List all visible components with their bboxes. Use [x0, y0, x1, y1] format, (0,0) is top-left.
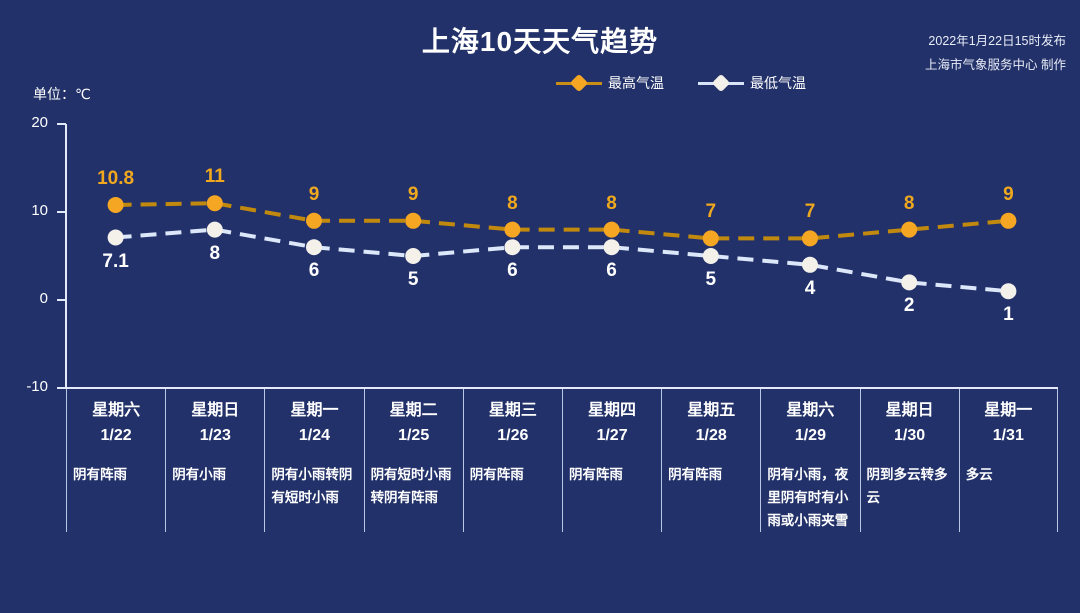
day-weekday-label: 星期日: [172, 399, 258, 424]
day-weekday-label: 星期六: [767, 399, 853, 424]
y-axis-tick-label: 10: [2, 202, 48, 219]
forecast-day-column[interactable]: 星期四1/27阴有阵雨: [562, 389, 661, 532]
day-weather-description: 阴到多云转多云: [867, 463, 953, 509]
forecast-day-column[interactable]: 星期一1/31多云: [959, 389, 1058, 532]
day-weekday-label: 星期三: [470, 399, 556, 424]
min-temp-value-label: 5: [661, 269, 761, 291]
day-weekday-label: 星期二: [371, 399, 457, 424]
day-weekday-label: 星期日: [867, 399, 953, 424]
publish-info: 2022年1月22日15时发布 上海市气象服务中心 制作: [925, 30, 1066, 78]
day-weather-description: 阴有短时小雨转阴有阵雨: [371, 463, 457, 509]
day-weather-description: 阴有小雨: [172, 463, 258, 486]
day-weekday-label: 星期五: [668, 399, 754, 424]
min-temp-value-label: 4: [760, 278, 860, 300]
day-weather-description: 阴有阵雨: [569, 463, 655, 486]
forecast-day-column[interactable]: 星期日1/30阴到多云转多云: [860, 389, 959, 532]
y-axis-tick-label: -10: [2, 378, 48, 395]
max-temp-value-label: 11: [165, 166, 265, 188]
axis-unit-label: 单位：℃: [33, 84, 91, 104]
day-weather-description: 阴有小雨，夜里阴有时有小雨或小雨夹雪: [767, 463, 853, 533]
day-date-label: 1/28: [668, 424, 754, 449]
min-temp-value-label: 6: [264, 260, 364, 282]
max-temp-value-label: 7: [661, 201, 761, 223]
forecast-day-column[interactable]: 星期六1/29阴有小雨，夜里阴有时有小雨或小雨夹雪: [760, 389, 859, 532]
day-weather-description: 阴有小雨转阴有短时小雨: [271, 463, 357, 509]
min-temp-value-label: 6: [462, 260, 562, 282]
chart-legend: 最高气温 最低气温: [556, 73, 806, 93]
day-weekday-label: 星期六: [73, 399, 159, 424]
day-weather-description: 阴有阵雨: [73, 463, 159, 486]
forecast-day-table: 星期六1/22阴有阵雨星期日1/23阴有小雨星期一1/24阴有小雨转阴有短时小雨…: [66, 389, 1058, 532]
day-date-label: 1/30: [867, 424, 953, 449]
legend-marker-max-icon: [570, 74, 588, 92]
min-temp-value-label: 5: [363, 269, 463, 291]
legend-item-max-temp: 最高气温: [556, 73, 664, 93]
day-weekday-label: 星期四: [569, 399, 655, 424]
legend-line-min-icon: [698, 82, 744, 85]
max-temp-value-label: 8: [462, 193, 562, 215]
y-axis-tick-label: 20: [2, 114, 48, 131]
max-temp-value-label: 7: [760, 201, 860, 223]
max-temp-value-label: 8: [859, 193, 959, 215]
day-date-label: 1/26: [470, 424, 556, 449]
max-temp-value-label: 10.8: [66, 168, 166, 190]
max-temp-value-label: 8: [562, 193, 662, 215]
forecast-day-column[interactable]: 星期二1/25阴有短时小雨转阴有阵雨: [364, 389, 463, 532]
min-temp-value-label: 8: [165, 243, 265, 265]
y-axis-tick-label: 0: [2, 290, 48, 307]
legend-line-max-icon: [556, 82, 602, 85]
min-temp-value-label: 2: [859, 295, 959, 317]
day-date-label: 1/25: [371, 424, 457, 449]
max-temp-value-label: 9: [264, 184, 364, 206]
max-temp-value-label: 9: [958, 184, 1058, 206]
day-date-label: 1/22: [73, 424, 159, 449]
forecast-day-column[interactable]: 星期一1/24阴有小雨转阴有短时小雨: [264, 389, 363, 532]
min-temp-value-label: 1: [958, 304, 1058, 326]
legend-label-max: 最高气温: [608, 73, 664, 93]
day-weather-description: 阴有阵雨: [668, 463, 754, 486]
legend-label-min: 最低气温: [750, 73, 806, 93]
page-title: 上海10天天气趋势: [0, 20, 1080, 60]
day-weather-description: 多云: [966, 463, 1051, 486]
legend-item-min-temp: 最低气温: [698, 73, 806, 93]
forecast-day-column[interactable]: 星期五1/28阴有阵雨: [661, 389, 760, 532]
forecast-day-column[interactable]: 星期日1/23阴有小雨: [165, 389, 264, 532]
max-temp-value-label: 9: [363, 184, 463, 206]
day-date-label: 1/29: [767, 424, 853, 449]
producer: 上海市气象服务中心 制作: [925, 54, 1066, 78]
day-date-label: 1/31: [966, 424, 1051, 449]
min-temp-value-label: 7.1: [66, 251, 166, 273]
publish-time: 2022年1月22日15时发布: [925, 30, 1066, 54]
min-temp-value-label: 6: [562, 260, 662, 282]
day-date-label: 1/24: [271, 424, 357, 449]
day-weather-description: 阴有阵雨: [470, 463, 556, 486]
day-date-label: 1/23: [172, 424, 258, 449]
forecast-day-column[interactable]: 星期三1/26阴有阵雨: [463, 389, 562, 532]
forecast-day-column[interactable]: 星期六1/22阴有阵雨: [66, 389, 165, 532]
legend-marker-min-icon: [712, 74, 730, 92]
day-date-label: 1/27: [569, 424, 655, 449]
day-weekday-label: 星期一: [271, 399, 357, 424]
day-weekday-label: 星期一: [966, 399, 1051, 424]
